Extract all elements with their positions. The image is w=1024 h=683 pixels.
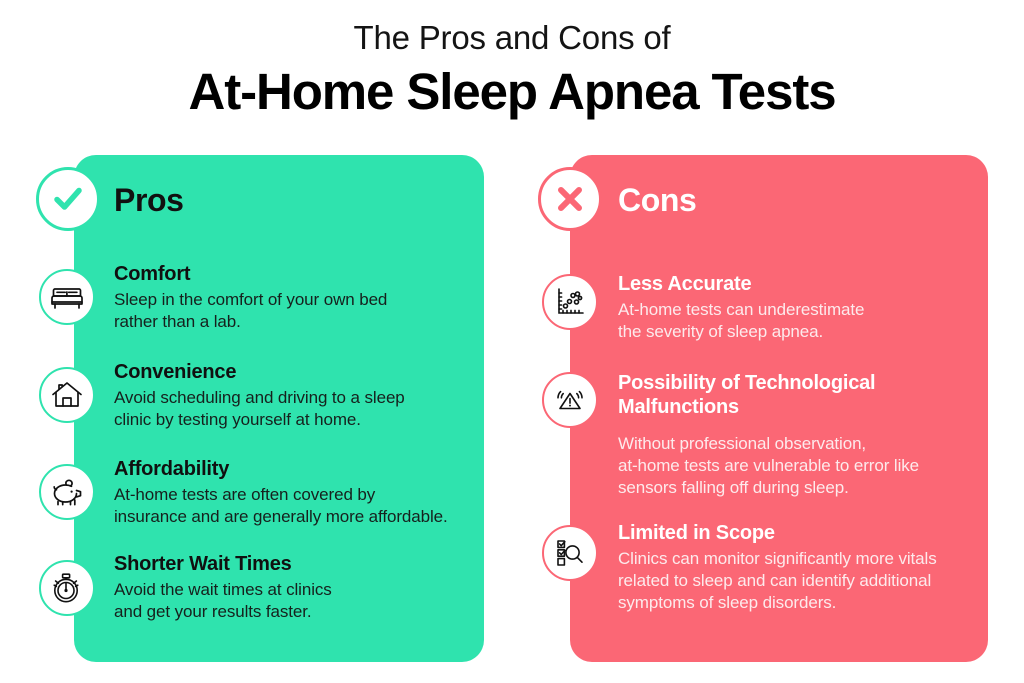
item-body: Avoid the wait times at clinics and get …	[114, 579, 474, 623]
list-item: Possibility of Technological Malfunction…	[618, 371, 988, 499]
scatter-plot-icon	[542, 274, 598, 330]
item-title: Affordability	[114, 457, 474, 481]
warning-signal-icon	[542, 372, 598, 428]
list-item: Limited in Scope Clinics can monitor sig…	[618, 521, 988, 614]
cons-heading: Cons	[618, 181, 696, 219]
list-item: Affordability At-home tests are often co…	[114, 457, 474, 528]
item-title: Limited in Scope	[618, 521, 988, 545]
item-body: At-home tests are often covered by insur…	[114, 484, 474, 528]
check-icon	[36, 167, 100, 231]
item-body: At-home tests can underestimate the seve…	[618, 299, 988, 343]
title-line-2: At-Home Sleep Apnea Tests	[0, 61, 1024, 123]
list-item: Convenience Avoid scheduling and driving…	[114, 360, 474, 431]
item-title: Possibility of Technological Malfunction…	[618, 371, 988, 419]
item-body: Clinics can monitor significantly more v…	[618, 548, 988, 614]
stopwatch-icon	[39, 560, 95, 616]
list-item: Less Accurate At-home tests can underest…	[618, 272, 988, 343]
item-title: Comfort	[114, 262, 474, 286]
item-body: Without professional observation, at-hom…	[618, 433, 988, 499]
piggy-bank-icon	[39, 464, 95, 520]
house-icon	[39, 367, 95, 423]
item-title: Shorter Wait Times	[114, 552, 474, 576]
checklist-magnifier-icon	[542, 525, 598, 581]
page-title: The Pros and Cons of At-Home Sleep Apnea…	[0, 18, 1024, 123]
item-body: Avoid scheduling and driving to a sleep …	[114, 387, 474, 431]
list-item: Comfort Sleep in the comfort of your own…	[114, 262, 474, 333]
title-line-1: The Pros and Cons of	[0, 18, 1024, 58]
bed-icon	[39, 269, 95, 325]
x-icon	[538, 167, 602, 231]
item-title: Less Accurate	[618, 272, 988, 296]
list-item: Shorter Wait Times Avoid the wait times …	[114, 552, 474, 623]
item-body: Sleep in the comfort of your own bed rat…	[114, 289, 474, 333]
item-title: Convenience	[114, 360, 474, 384]
pros-heading: Pros	[114, 181, 184, 219]
